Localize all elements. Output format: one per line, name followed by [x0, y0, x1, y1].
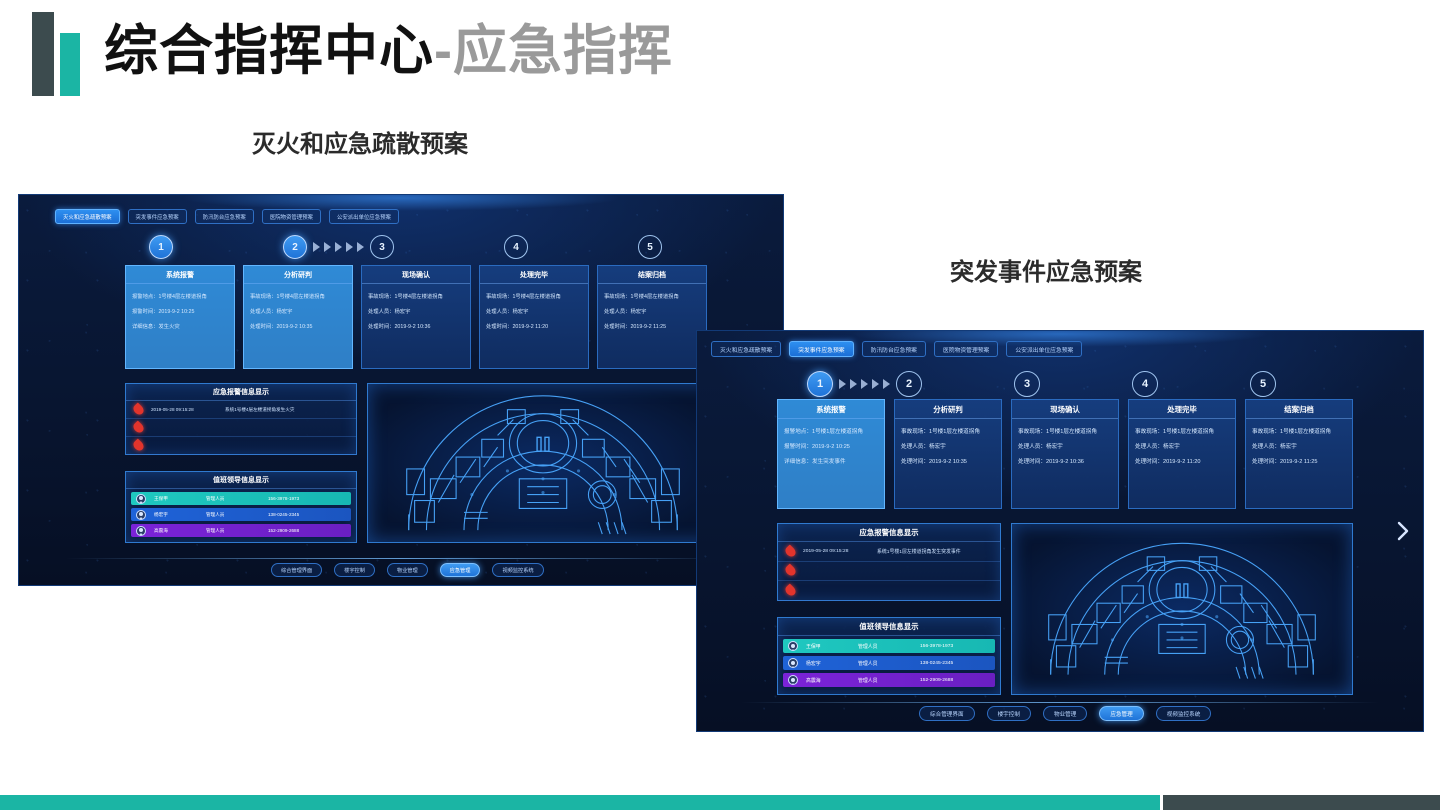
- nav-item-0[interactable]: 综合管理界面: [271, 563, 322, 577]
- tab-plan-3[interactable]: 医院物资管理预案: [934, 341, 998, 357]
- alarm-panel-title: 应急报警信息显示: [126, 384, 356, 401]
- leader-role: 管理人员: [206, 528, 268, 534]
- step-card-body: 事故现场：1号楼4层左楼道拐角 处理人员：杨宏宇 处理时间：2019-9-2 1…: [362, 284, 470, 330]
- step-card-1[interactable]: 分析研判 事故现场：1号楼1层左楼道拐角 处理人员：杨宏宇 处理时间：2019-…: [894, 399, 1002, 509]
- leader-role: 管理人员: [858, 643, 920, 650]
- leader-row[interactable]: 杨宏宇 管理人员 138-0245-2345: [783, 656, 995, 670]
- alarm-row[interactable]: 2019-05-28 09:15:28 系统1号楼1层左楼道拐角发生突发事件: [778, 542, 1000, 562]
- arrow-icon: [839, 379, 846, 389]
- step-card-line: 处理时间：2019-9-2 10:36: [368, 322, 464, 330]
- step-card-2[interactable]: 现场确认 事故现场：1号楼1层左楼道拐角 处理人员：杨宏宇 处理时间：2019-…: [1011, 399, 1119, 509]
- leader-phone: 152-2909-2688: [920, 678, 953, 683]
- alarm-row[interactable]: [126, 419, 356, 437]
- page-title-main: 综合指挥中心: [104, 21, 434, 81]
- plan-tab-bar-1: 灭火和应急疏散预案 突发事件应急预案 防汛防台应急预案 医院物资管理预案 公安派…: [55, 209, 399, 224]
- footer-bar-teal: [0, 795, 1160, 810]
- step-card-list-2: 系统报警 报警地点：1号楼1层左楼道拐角 报警时间：2019-9-2 10:25…: [777, 399, 1353, 509]
- step-card-line: 处理时间：2019-9-2 11:20: [486, 322, 582, 330]
- caption-right: 突发事件应急预案: [950, 252, 1142, 287]
- alarm-message: 系统1号楼4层左楼道拐角发生火灾: [225, 407, 294, 413]
- leader-row[interactable]: 王保甲 管理人员 156-3978-1973: [783, 639, 995, 653]
- leader-info-panel-1: 值班领导信息显示 王保甲 管理人员 156-3978-1973 杨宏宇 管理人员…: [125, 471, 357, 543]
- nav-item-3[interactable]: 应急管理: [1099, 706, 1143, 721]
- step-card-body: 事故现场：1号楼1层左楼道拐角 处理人员：杨宏宇 处理时间：2019-9-2 1…: [1129, 419, 1235, 465]
- step-card-3[interactable]: 处理完毕 事故现场：1号楼1层左楼道拐角 处理人员：杨宏宇 处理时间：2019-…: [1128, 399, 1236, 509]
- leader-role: 管理人员: [206, 512, 268, 518]
- floorplan-map-2[interactable]: [1011, 523, 1353, 695]
- nav-item-3[interactable]: 应急管理: [440, 563, 481, 577]
- step-card-line: 处理时间：2019-9-2 10:35: [250, 322, 346, 330]
- step-1[interactable]: 1: [807, 371, 833, 397]
- step-arrows: [839, 379, 890, 389]
- tab-plan-0[interactable]: 灭火和应急疏散预案: [55, 209, 120, 224]
- step-card-title: 分析研判: [895, 400, 1001, 419]
- bottom-nav-2: 综合管理界面 楼宇控制 物业管理 应急管理 视频监控系统: [919, 706, 1211, 721]
- step-card-4[interactable]: 结案归档 事故现场：1号楼4层左楼道拐角 处理人员：杨宏宇 处理时间：2019-…: [597, 265, 707, 369]
- floorplan-svg: [368, 384, 718, 542]
- arrow-icon: [861, 379, 868, 389]
- floorplan-map-1[interactable]: [367, 383, 719, 543]
- leader-name: 高震海: [154, 528, 206, 534]
- leader-phone: 152-2909-2688: [268, 528, 299, 533]
- leader-row[interactable]: 高震海 管理人员 152-2909-2688: [131, 524, 351, 537]
- title-bar-teal: [60, 33, 80, 96]
- leader-role: 管理人员: [858, 660, 920, 667]
- step-card-line: 事故现场：1号楼4层左楼道拐角: [368, 292, 464, 300]
- page-title-sub: -应急指挥: [434, 21, 673, 81]
- step-card-line: 报警地点：1号楼4层左楼道拐角: [132, 292, 228, 300]
- alarm-row[interactable]: 2019-05-28 09:15:28 系统1号楼4层左楼道拐角发生火灾: [126, 401, 356, 419]
- step-card-2[interactable]: 现场确认 事故现场：1号楼4层左楼道拐角 处理人员：杨宏宇 处理时间：2019-…: [361, 265, 471, 369]
- step-card-title: 系统报警: [126, 266, 234, 284]
- tab-plan-1[interactable]: 突发事件应急预案: [128, 209, 187, 224]
- step-card-title: 结案归档: [598, 266, 706, 284]
- alarm-info-panel-1: 应急报警信息显示 2019-05-28 09:15:28 系统1号楼4层左楼道拐…: [125, 383, 357, 455]
- step-4[interactable]: 4: [504, 235, 528, 259]
- step-card-title: 结案归档: [1246, 400, 1352, 419]
- step-card-title: 系统报警: [778, 400, 884, 419]
- alarm-info-panel-2: 应急报警信息显示 2019-05-28 09:15:28 系统1号楼1层左楼道拐…: [777, 523, 1001, 601]
- step-card-title: 现场确认: [362, 266, 470, 284]
- title-bar-dark: [32, 12, 54, 96]
- leader-row[interactable]: 王保甲 管理人员 156-3978-1973: [131, 492, 351, 505]
- step-indicator-2: 1 2 3 4 5: [807, 371, 1276, 397]
- step-card-body: 事故现场：1号楼1层左楼道拐角 处理人员：杨宏宇 处理时间：2019-9-2 1…: [1246, 419, 1352, 465]
- step-card-0[interactable]: 系统报警 报警地点：1号楼4层左楼道拐角 报警时间：2019-9-2 10:25…: [125, 265, 235, 369]
- step-card-line: 处理人员：杨宏宇: [486, 307, 582, 315]
- alarm-time: 2019-05-28 09:15:28: [803, 549, 877, 554]
- alarm-row[interactable]: [126, 437, 356, 455]
- floorplan-svg: [1012, 524, 1352, 694]
- avatar: [136, 494, 146, 504]
- step-indicator-1: 1 2 3 4 5: [149, 235, 662, 259]
- tab-plan-4[interactable]: 公安派出单位应急预案: [1006, 341, 1082, 357]
- nav-item-1[interactable]: 楼宇控制: [987, 706, 1031, 721]
- step-card-line: 报警时间：2019-9-2 10:25: [784, 442, 878, 450]
- step-card-line: 报警时间：2019-9-2 10:25: [132, 307, 228, 315]
- leader-phone: 138-0245-2345: [920, 661, 953, 666]
- step-card-line: 事故现场：1号楼4层左楼道拐角: [604, 292, 700, 300]
- next-page-button[interactable]: [1395, 520, 1411, 542]
- step-card-line: 处理时间：2019-9-2 11:20: [1135, 457, 1229, 465]
- step-card-line: 处理人员：杨宏宇: [1252, 442, 1346, 450]
- step-3[interactable]: 3: [370, 235, 394, 259]
- tab-plan-2[interactable]: 防汛防台应急预案: [195, 209, 254, 224]
- step-2[interactable]: 2: [896, 371, 922, 397]
- title-accent-bars: [32, 12, 80, 96]
- avatar: [136, 526, 146, 536]
- step-5[interactable]: 5: [638, 235, 662, 259]
- nav-item-4[interactable]: 视频监控系统: [492, 563, 543, 577]
- step-arrows: [313, 242, 364, 252]
- alarm-row[interactable]: [778, 581, 1000, 601]
- plan-tab-bar-2: 灭火和应急疏散预案 突发事件应急预案 防汛防台应急预案 医院物资管理预案 公安派…: [711, 341, 1082, 357]
- nav-item-1[interactable]: 楼宇控制: [334, 563, 375, 577]
- step-card-0[interactable]: 系统报警 报警地点：1号楼1层左楼道拐角 报警时间：2019-9-2 10:25…: [777, 399, 885, 509]
- alarm-panel-title: 应急报警信息显示: [778, 524, 1000, 542]
- step-card-body: 事故现场：1号楼1层左楼道拐角 处理人员：杨宏宇 处理时间：2019-9-2 1…: [1012, 419, 1118, 465]
- step-card-line: 处理时间：2019-9-2 10:35: [901, 457, 995, 465]
- arrow-icon: [324, 242, 331, 252]
- fire-icon: [786, 565, 795, 576]
- step-card-3[interactable]: 处理完毕 事故现场：1号楼4层左楼道拐角 处理人员：杨宏宇 处理时间：2019-…: [479, 265, 589, 369]
- step-card-body: 事故现场：1号楼4层左楼道拐角 处理人员：杨宏宇 处理时间：2019-9-2 1…: [480, 284, 588, 330]
- avatar: [788, 675, 798, 685]
- step-card-body: 报警地点：1号楼1层左楼道拐角 报警时间：2019-9-2 10:25 详细信息…: [778, 419, 884, 465]
- step-card-line: 处理人员：杨宏宇: [368, 307, 464, 315]
- alarm-time: 2019-05-28 09:15:28: [151, 407, 225, 412]
- caption-left: 灭火和应急疏散预案: [252, 124, 468, 159]
- step-card-line: 事故现场：1号楼1层左楼道拐角: [901, 427, 995, 435]
- step-card-title: 分析研判: [244, 266, 352, 284]
- footer-bar-dark: [1163, 795, 1440, 810]
- step-card-title: 处理完毕: [1129, 400, 1235, 419]
- step-3[interactable]: 3: [1014, 371, 1040, 397]
- step-2[interactable]: 2: [283, 235, 307, 259]
- step-card-title: 现场确认: [1012, 400, 1118, 419]
- step-card-body: 事故现场：1号楼1层左楼道拐角 处理人员：杨宏宇 处理时间：2019-9-2 1…: [895, 419, 1001, 465]
- leader-name: 王保甲: [806, 643, 858, 650]
- leader-row[interactable]: 高震海 管理人员 152-2909-2688: [783, 673, 995, 687]
- tab-plan-2[interactable]: 防汛防台应急预案: [862, 341, 926, 357]
- arrow-icon: [883, 379, 890, 389]
- leader-row[interactable]: 杨宏宇 管理人员 138-0245-2345: [131, 508, 351, 521]
- fire-icon: [786, 585, 795, 596]
- bottom-divider-line: [65, 558, 737, 559]
- step-card-body: 报警地点：1号楼4层左楼道拐角 报警时间：2019-9-2 10:25 详细信息…: [126, 284, 234, 330]
- arrow-icon: [872, 379, 879, 389]
- nav-item-2[interactable]: 物业管理: [387, 563, 428, 577]
- fire-icon: [134, 422, 143, 433]
- tab-plan-0[interactable]: 灭火和应急疏散预案: [711, 341, 781, 357]
- step-card-1[interactable]: 分析研判 事故现场：1号楼4层左楼道拐角 处理人员：杨宏宇 处理时间：2019-…: [243, 265, 353, 369]
- step-5[interactable]: 5: [1250, 371, 1276, 397]
- fire-icon: [134, 404, 143, 415]
- step-card-line: 报警地点：1号楼1层左楼道拐角: [784, 427, 878, 435]
- leader-role: 管理人员: [858, 677, 920, 684]
- avatar: [788, 658, 798, 668]
- step-card-line: 处理人员：杨宏宇: [250, 307, 346, 315]
- bottom-nav-1: 综合管理界面 楼宇控制 物业管理 应急管理 视频监控系统: [271, 563, 544, 577]
- step-card-line: 事故现场：1号楼1层左楼道拐角: [1135, 427, 1229, 435]
- step-card-title: 处理完毕: [480, 266, 588, 284]
- fire-icon: [786, 546, 795, 557]
- alarm-message: 系统1号楼1层左楼道拐角发生突发事件: [877, 548, 961, 555]
- avatar: [136, 510, 146, 520]
- step-card-line: 处理时间：2019-9-2 11:25: [604, 322, 700, 330]
- arrow-icon: [850, 379, 857, 389]
- tab-plan-3[interactable]: 医院物资管理预案: [262, 209, 321, 224]
- step-card-line: 详细信息：发生突发事件: [784, 457, 878, 465]
- step-card-line: 详细信息：发生火灾: [132, 322, 228, 330]
- avatar: [788, 641, 798, 651]
- nav-item-0[interactable]: 综合管理界面: [919, 706, 975, 721]
- chevron-right-icon: [1395, 520, 1411, 542]
- leader-info-panel-2: 值班领导信息显示 王保甲 管理人员 156-3978-1973 杨宏宇 管理人员…: [777, 617, 1001, 695]
- step-card-line: 处理人员：杨宏宇: [1135, 442, 1229, 450]
- step-card-list-1: 系统报警 报警地点：1号楼4层左楼道拐角 报警时间：2019-9-2 10:25…: [125, 265, 707, 369]
- slide-root: 综合指挥中心-应急指挥 灭火和应急疏散预案 突发事件应急预案 灭火和应急疏散预案…: [0, 0, 1440, 810]
- step-1[interactable]: 1: [149, 235, 173, 259]
- step-card-body: 事故现场：1号楼4层左楼道拐角 处理人员：杨宏宇 处理时间：2019-9-2 1…: [244, 284, 352, 330]
- leader-phone: 156-3978-1973: [920, 644, 953, 649]
- arrow-icon: [313, 242, 320, 252]
- leader-panel-title: 值班领导信息显示: [126, 472, 356, 489]
- nav-item-4[interactable]: 视频监控系统: [1156, 706, 1212, 721]
- step-card-line: 事故现场：1号楼4层左楼道拐角: [250, 292, 346, 300]
- arrow-icon: [357, 242, 364, 252]
- leader-name: 王保甲: [154, 496, 206, 502]
- leader-name: 高震海: [806, 677, 858, 684]
- nav-item-2[interactable]: 物业管理: [1043, 706, 1087, 721]
- fire-icon: [134, 440, 143, 451]
- bottom-divider-line: [741, 702, 1380, 703]
- dashboard-fire-evacuation: 灭火和应急疏散预案 突发事件应急预案 防汛防台应急预案 医院物资管理预案 公安派…: [18, 194, 784, 586]
- leader-name: 杨宏宇: [154, 512, 206, 518]
- arrow-icon: [335, 242, 342, 252]
- step-card-4[interactable]: 结案归档 事故现场：1号楼1层左楼道拐角 处理人员：杨宏宇 处理时间：2019-…: [1245, 399, 1353, 509]
- page-title: 综合指挥中心-应急指挥: [104, 24, 673, 78]
- leader-role: 管理人员: [206, 496, 268, 502]
- leader-phone: 138-0245-2345: [268, 512, 299, 517]
- tab-plan-4[interactable]: 公安派出单位应急预案: [329, 209, 399, 224]
- step-card-line: 事故现场：1号楼1层左楼道拐角: [1018, 427, 1112, 435]
- step-card-line: 处理时间：2019-9-2 11:25: [1252, 457, 1346, 465]
- leader-phone: 156-3978-1973: [268, 496, 299, 501]
- step-card-line: 处理人员：杨宏宇: [604, 307, 700, 315]
- dashboard-emergency-incident: 灭火和应急疏散预案 突发事件应急预案 防汛防台应急预案 医院物资管理预案 公安派…: [696, 330, 1424, 732]
- step-card-line: 处理人员：杨宏宇: [1018, 442, 1112, 450]
- tab-plan-1[interactable]: 突发事件应急预案: [789, 341, 853, 357]
- step-card-body: 事故现场：1号楼4层左楼道拐角 处理人员：杨宏宇 处理时间：2019-9-2 1…: [598, 284, 706, 330]
- leader-name: 杨宏宇: [806, 660, 858, 667]
- step-card-line: 处理时间：2019-9-2 10:36: [1018, 457, 1112, 465]
- step-card-line: 事故现场：1号楼1层左楼道拐角: [1252, 427, 1346, 435]
- step-card-line: 处理人员：杨宏宇: [901, 442, 995, 450]
- arrow-icon: [346, 242, 353, 252]
- alarm-row[interactable]: [778, 562, 1000, 582]
- leader-panel-title: 值班领导信息显示: [778, 618, 1000, 636]
- step-card-line: 事故现场：1号楼4层左楼道拐角: [486, 292, 582, 300]
- step-4[interactable]: 4: [1132, 371, 1158, 397]
